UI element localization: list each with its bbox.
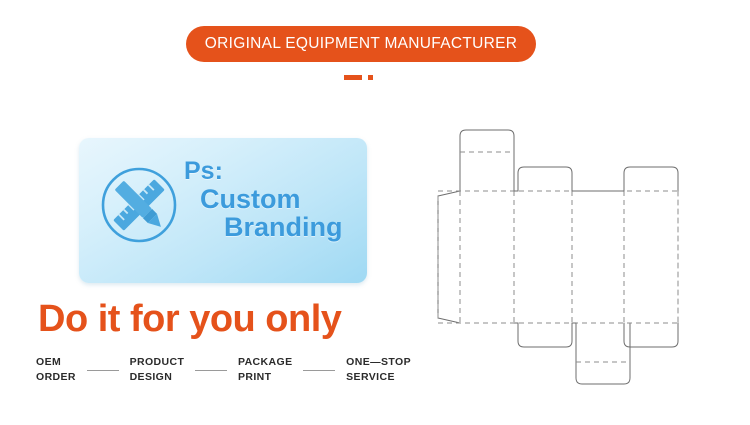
clipped-dot-shape xyxy=(368,75,373,80)
oem-banner-label: ORIGINAL EQUIPMENT MANUFACTURER xyxy=(205,35,517,53)
process-step-line2: PRINT xyxy=(238,370,293,385)
process-step-oem-order: OEM ORDER xyxy=(36,355,76,385)
process-step-line2: ORDER xyxy=(36,370,76,385)
brand-line-custom: Custom xyxy=(182,185,362,214)
promo-banner-page: ORIGINAL EQUIPMENT MANUFACTURER xyxy=(0,0,750,425)
process-step-product-design: PRODUCT DESIGN xyxy=(130,355,185,385)
process-step-line2: DESIGN xyxy=(130,370,185,385)
process-connector-3 xyxy=(303,370,335,371)
oem-banner: ORIGINAL EQUIPMENT MANUFACTURER xyxy=(186,26,536,62)
process-connector-1 xyxy=(87,370,119,371)
process-step-line1: PRODUCT xyxy=(130,355,185,370)
clipped-dash-shape xyxy=(344,75,362,80)
process-steps: OEM ORDER PRODUCT DESIGN PACKAGE PRINT O… xyxy=(36,355,411,385)
brand-line-branding: Branding xyxy=(182,213,362,242)
headline-text: Do it for you only xyxy=(38,298,341,341)
brand-line-ps: Ps: xyxy=(182,158,362,185)
custom-branding-card: Ps: Custom Branding xyxy=(79,138,367,283)
clipped-orange-mark xyxy=(344,72,384,84)
custom-branding-text: Ps: Custom Branding xyxy=(182,158,362,242)
ruler-pencil-circle-icon xyxy=(98,164,180,246)
process-step-one-stop-service: ONE—STOP SERVICE xyxy=(346,355,411,385)
box-dieline-diagram xyxy=(424,112,742,402)
custom-branding-card-inner: Ps: Custom Branding xyxy=(79,138,367,283)
process-step-line1: ONE—STOP xyxy=(346,355,411,370)
process-step-line1: PACKAGE xyxy=(238,355,293,370)
process-step-line2: SERVICE xyxy=(346,370,411,385)
process-step-line1: OEM xyxy=(36,355,76,370)
process-connector-2 xyxy=(195,370,227,371)
process-step-package-print: PACKAGE PRINT xyxy=(238,355,293,385)
